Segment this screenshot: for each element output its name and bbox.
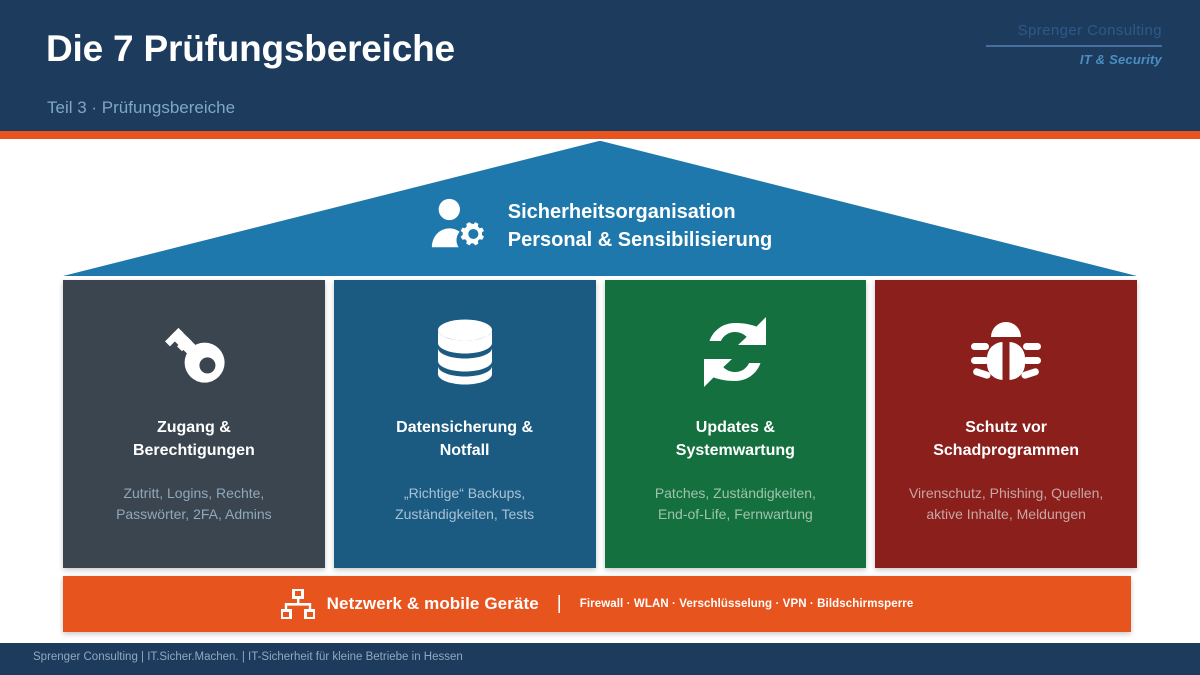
roof-label: Sicherheitsorganisation Personal & Sensi…	[508, 199, 773, 254]
pillar-title: Schutz vor Schadprogrammen	[923, 416, 1089, 462]
pillar-title-line2: Schadprogrammen	[933, 439, 1079, 462]
bug-icon	[965, 311, 1047, 393]
foundation-title: Netzwerk & mobile Geräte	[327, 594, 539, 614]
pillar-icon-wrap	[152, 306, 236, 398]
header-accent-stripe	[0, 131, 1200, 139]
pillar-title: Updates & Systemwartung	[666, 416, 805, 462]
roof-label-line1: Sicherheitsorganisation	[508, 199, 773, 226]
pillar-desc-line2: aktive Inhalte, Meldungen	[885, 504, 1127, 524]
pillar-desc-line1: Zutritt, Logins, Rechte,	[73, 483, 315, 503]
foundation-separator: |	[557, 593, 562, 615]
pillar-desc-line1: Virenschutz, Phishing, Quellen,	[885, 483, 1127, 503]
pillar-description: Zutritt, Logins, Rechte, Passwörter, 2FA…	[63, 483, 325, 524]
pillar-title-line2: Systemwartung	[676, 439, 795, 462]
pillar-title-line1: Schutz vor	[933, 416, 1079, 439]
pillar-title-line1: Updates &	[676, 416, 795, 439]
pillar-icon-wrap	[965, 306, 1047, 398]
pillar-title-line1: Datensicherung &	[396, 416, 533, 439]
foundation-bar[interactable]: Netzwerk & mobile Geräte | Firewall · WL…	[63, 576, 1131, 632]
page-title: Die 7 Prüfungsbereiche	[46, 28, 455, 70]
pillar-title-line2: Notfall	[396, 439, 533, 462]
foundation-subtitle: Firewall · WLAN · Verschlüsselung · VPN …	[580, 598, 914, 610]
pillar-schutz-schadprogramme[interactable]: Schutz vor Schadprogrammen Virenschutz, …	[875, 280, 1137, 568]
pillar-description: „Richtige“ Backups, Zuständigkeiten, Tes…	[334, 483, 596, 524]
user-gear-icon	[428, 196, 490, 252]
sync-refresh-icon	[694, 311, 776, 393]
pillar-icon-wrap	[425, 306, 505, 398]
brand-divider	[986, 45, 1162, 47]
pillar-desc-line1: „Richtige“ Backups,	[344, 483, 586, 503]
pillar-description: Patches, Zuständigkeiten, End-of-Life, F…	[605, 483, 867, 524]
brand-tagline: IT & Security	[902, 52, 1162, 67]
pillar-desc-line1: Patches, Zuständigkeiten,	[615, 483, 857, 503]
brand-block: Sprenger Consulting IT & Security	[902, 22, 1162, 67]
brand-name: Sprenger Consulting	[902, 22, 1162, 39]
pillar-datensicherung-notfall[interactable]: Datensicherung & Notfall „Richtige“ Back…	[334, 280, 596, 568]
pillar-desc-line2: Passwörter, 2FA, Admins	[73, 504, 315, 524]
network-sitemap-icon	[281, 589, 315, 619]
page-subtitle: Teil 3 · Prüfungsbereiche	[47, 98, 235, 118]
pillar-desc-line2: Zuständigkeiten, Tests	[344, 504, 586, 524]
pillar-title-line2: Berechtigungen	[133, 439, 255, 462]
pillar-group: Zugang & Berechtigungen Zutritt, Logins,…	[63, 280, 1137, 568]
pillar-desc-line2: End-of-Life, Fernwartung	[615, 504, 857, 524]
roof-content: Sicherheitsorganisation Personal & Sensi…	[63, 141, 1137, 276]
slide-canvas: Die 7 Prüfungsbereiche Teil 3 · Prüfungs…	[0, 0, 1200, 675]
database-icon	[425, 312, 505, 392]
pillar-title: Zugang & Berechtigungen	[123, 416, 265, 462]
pillar-description: Virenschutz, Phishing, Quellen, aktive I…	[875, 483, 1137, 524]
pillar-icon-wrap	[694, 306, 776, 398]
roof-label-line2: Personal & Sensibilisierung	[508, 227, 773, 254]
pillar-title-line1: Zugang &	[133, 416, 255, 439]
pillar-updates-systemwartung[interactable]: Updates & Systemwartung Patches, Zuständ…	[605, 280, 867, 568]
key-icon	[152, 310, 236, 394]
pillar-zugang-berechtigungen[interactable]: Zugang & Berechtigungen Zutritt, Logins,…	[63, 280, 325, 568]
pillar-title: Datensicherung & Notfall	[386, 416, 543, 462]
footer-text: Sprenger Consulting | IT.Sicher.Machen. …	[33, 651, 463, 663]
